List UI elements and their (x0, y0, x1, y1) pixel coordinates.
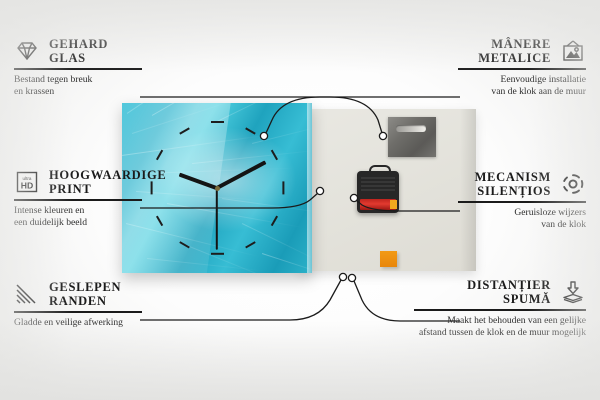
svg-text:HD: HD (21, 181, 33, 191)
callout-divider (458, 68, 586, 70)
polished-glass-edge (307, 103, 312, 273)
callout-divider (458, 201, 586, 203)
callout-head: MÂNERE METALICE (458, 37, 586, 65)
movement-vents (361, 177, 395, 191)
clock-movement (357, 171, 399, 213)
callout-divider (414, 309, 586, 311)
second-hand (216, 188, 218, 250)
callout-hoogwaardige-print[interactable]: ultra HD HOOGWAARDIGE PRINT Intense kleu… (14, 168, 142, 229)
callout-desc: Maakt het behouden van een gelijke afsta… (414, 315, 586, 339)
ultra-hd-icon: ultra HD (14, 170, 40, 194)
callout-distantier-spuma[interactable]: DISTANȚIER SPUMĂ Maakt het behouden van … (414, 278, 586, 339)
infographic-canvas: GEHARD GLAS Bestand tegen breuk en krass… (0, 0, 600, 400)
spacer-pad-icon (560, 280, 586, 304)
callout-head: GEHARD GLAS (14, 37, 142, 65)
gear-icon (560, 172, 586, 196)
callout-divider (14, 68, 142, 70)
callout-title: HOOGWAARDIGE PRINT (49, 168, 166, 196)
foam-spacer (380, 251, 397, 267)
callout-divider (14, 199, 142, 201)
callout-gehard-glas[interactable]: GEHARD GLAS Bestand tegen breuk en krass… (14, 37, 142, 98)
polished-edges-icon (14, 282, 40, 306)
callout-mecanism-silentios[interactable]: MECANISM SILENȚIOS Geruisloze wijzers va… (458, 170, 586, 231)
movement-bail (369, 165, 391, 177)
callout-title: DISTANȚIER SPUMĂ (467, 278, 551, 306)
hanger-slot (396, 125, 426, 132)
callout-title: GEHARD GLAS (49, 37, 108, 65)
clock-back-panel (300, 109, 476, 271)
callout-manere-metalice[interactable]: MÂNERE METALICE Eenvoudige installatie v… (458, 37, 586, 98)
callout-geslepen-randen[interactable]: GESLEPEN RANDEN Gladde en veilige afwerk… (14, 280, 142, 329)
callout-head: MECANISM SILENȚIOS (458, 170, 586, 198)
product-photo (122, 103, 480, 278)
hand-hub (215, 186, 220, 191)
callout-desc: Geruisloze wijzers van de klok (458, 207, 586, 231)
callout-desc: Eenvoudige installatie van de klok aan d… (458, 74, 586, 98)
callout-desc: Bestand tegen breuk en krassen (14, 74, 142, 98)
picture-hanger-icon (560, 39, 586, 63)
callout-divider (14, 311, 142, 313)
callout-head: ultra HD HOOGWAARDIGE PRINT (14, 168, 142, 196)
callout-title: GESLEPEN RANDEN (49, 280, 121, 308)
battery (360, 199, 396, 210)
callout-head: GESLEPEN RANDEN (14, 280, 142, 308)
callout-desc: Intense kleuren en een duidelijk beeld (14, 205, 142, 229)
callout-title: MÂNERE METALICE (478, 37, 551, 65)
metal-hanger-plate-icon (388, 117, 436, 157)
callout-desc: Gladde en veilige afwerking (14, 317, 142, 329)
callout-title: MECANISM SILENȚIOS (475, 170, 551, 198)
callout-head: DISTANȚIER SPUMĂ (414, 278, 586, 306)
diamond-icon (14, 39, 40, 63)
